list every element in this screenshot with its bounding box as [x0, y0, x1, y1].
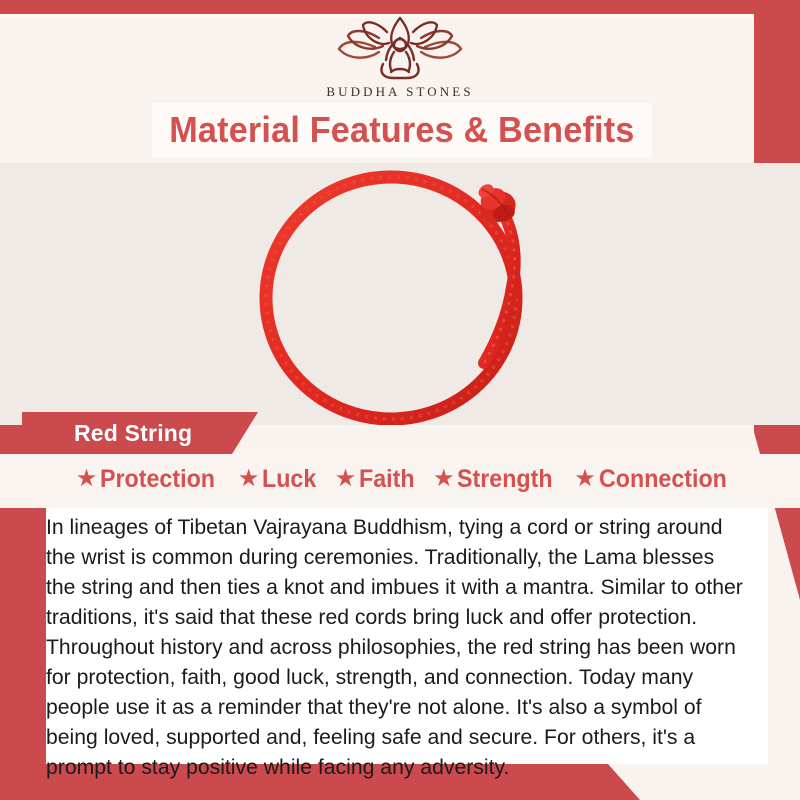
- description-paragraph: In lineages of Tibetan Vajrayana Buddhis…: [46, 512, 757, 782]
- infographic-page: BUDDHA STONES Material Features & Benefi…: [0, 0, 800, 800]
- star-icon: ★: [76, 467, 98, 491]
- section-ribbon-label: Red String: [74, 420, 192, 447]
- red-string-bracelet-image: [236, 163, 566, 425]
- brand-logo: BUDDHA STONES: [0, 16, 800, 102]
- benefit-item-strength: ★ Strength: [428, 465, 565, 494]
- benefit-item-luck: ★ Luck: [233, 465, 326, 494]
- benefit-label: Luck: [262, 465, 316, 494]
- star-icon: ★: [574, 467, 596, 491]
- benefit-item-protection: ★ Protection: [71, 465, 229, 494]
- benefit-item-faith: ★ Faith: [330, 465, 424, 494]
- page-title: Material Features & Benefits: [169, 109, 634, 151]
- benefit-label: Connection: [599, 465, 727, 494]
- benefits-list: ★ Protection ★ Luck ★ Faith ★ Strength ★…: [46, 456, 766, 502]
- section-ribbon: Red String: [22, 412, 258, 454]
- star-icon: ★: [335, 467, 357, 491]
- brand-wordmark: BUDDHA STONES: [326, 84, 473, 100]
- benefit-label: Strength: [457, 465, 553, 494]
- frame-top-bar: [0, 0, 800, 14]
- star-icon: ★: [433, 467, 455, 491]
- benefit-item-connection: ★ Connection: [569, 465, 741, 494]
- lotus-meditation-icon: [335, 16, 465, 82]
- benefit-label: Faith: [359, 465, 415, 494]
- title-band: Material Features & Benefits: [152, 103, 652, 157]
- star-icon: ★: [238, 467, 260, 491]
- description-panel: In lineages of Tibetan Vajrayana Buddhis…: [46, 508, 768, 764]
- benefit-label: Protection: [100, 465, 215, 494]
- hero-image-area: [0, 163, 800, 425]
